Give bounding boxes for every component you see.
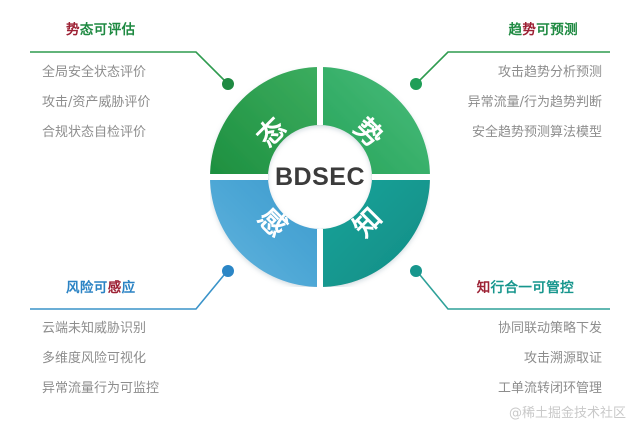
quadrant-top-left-title: 势态可评估: [66, 18, 150, 38]
quadrant-top-right-items: 攻击趋势分析预测异常流量/行为趋势判断安全趋势预测算法模型: [468, 58, 602, 148]
title-fragment: 行合一可管控: [491, 280, 574, 296]
quadrant-bottom-right-items: 协同联动策略下发攻击溯源取证工单流转闭环管理: [477, 314, 602, 404]
list-item: 攻击/资产威胁评价: [42, 88, 150, 118]
quadrant-top-left-items: 全局安全状态评价攻击/资产威胁评价合规状态自检评价: [42, 58, 150, 148]
bdsec-donut-chart: 态 势 感 知: [210, 67, 430, 287]
list-item: 合规状态自检评价: [42, 118, 150, 148]
quadrant-top-right: 趋势可预测 攻击趋势分析预测异常流量/行为趋势判断安全趋势预测算法模型: [468, 18, 610, 148]
list-item: 安全趋势预测算法模型: [468, 118, 602, 148]
title-fragment: 应: [122, 280, 136, 296]
title-fragment: 势: [66, 22, 80, 38]
list-item: 多维度风险可视化: [42, 344, 159, 374]
list-item: 云端未知威胁识别: [42, 314, 159, 344]
title-fragment: 风险可: [66, 280, 108, 296]
list-item: 异常流量行为可监控: [42, 374, 159, 404]
list-item: 攻击趋势分析预测: [468, 58, 602, 88]
title-fragment: 态可评估: [80, 22, 136, 38]
quadrant-top-right-title: 趋势可预测: [468, 18, 578, 38]
infographic-canvas: 态 势 感 知 BDSEC 势态可评估 全局: [0, 0, 640, 425]
list-item: 全局安全状态评价: [42, 58, 150, 88]
list-item: 攻击溯源取证: [477, 344, 602, 374]
list-item: 工单流转闭环管理: [477, 374, 602, 404]
quadrant-bottom-right: 知行合一可管控 协同联动策略下发攻击溯源取证工单流转闭环管理: [477, 276, 610, 404]
title-fragment: 趋: [508, 22, 522, 38]
quadrant-bottom-left-title: 风险可感应: [66, 276, 159, 296]
watermark: @稀土掘金技术社区: [509, 402, 626, 421]
quadrant-bottom-right-title: 知行合一可管控: [477, 276, 574, 296]
title-fragment: 可预测: [536, 22, 578, 38]
quadrant-bottom-left: 风险可感应 云端未知威胁识别多维度风险可视化异常流量行为可监控: [30, 276, 159, 404]
list-item: 协同联动策略下发: [477, 314, 602, 344]
quadrant-top-left: 势态可评估 全局安全状态评价攻击/资产威胁评价合规状态自检评价: [30, 18, 150, 148]
quadrant-bottom-left-items: 云端未知威胁识别多维度风险可视化异常流量行为可监控: [42, 314, 159, 404]
title-fragment: 知: [477, 280, 491, 296]
title-fragment: 势: [522, 22, 536, 38]
title-fragment: 感: [108, 280, 122, 296]
list-item: 异常流量/行为趋势判断: [468, 88, 602, 118]
